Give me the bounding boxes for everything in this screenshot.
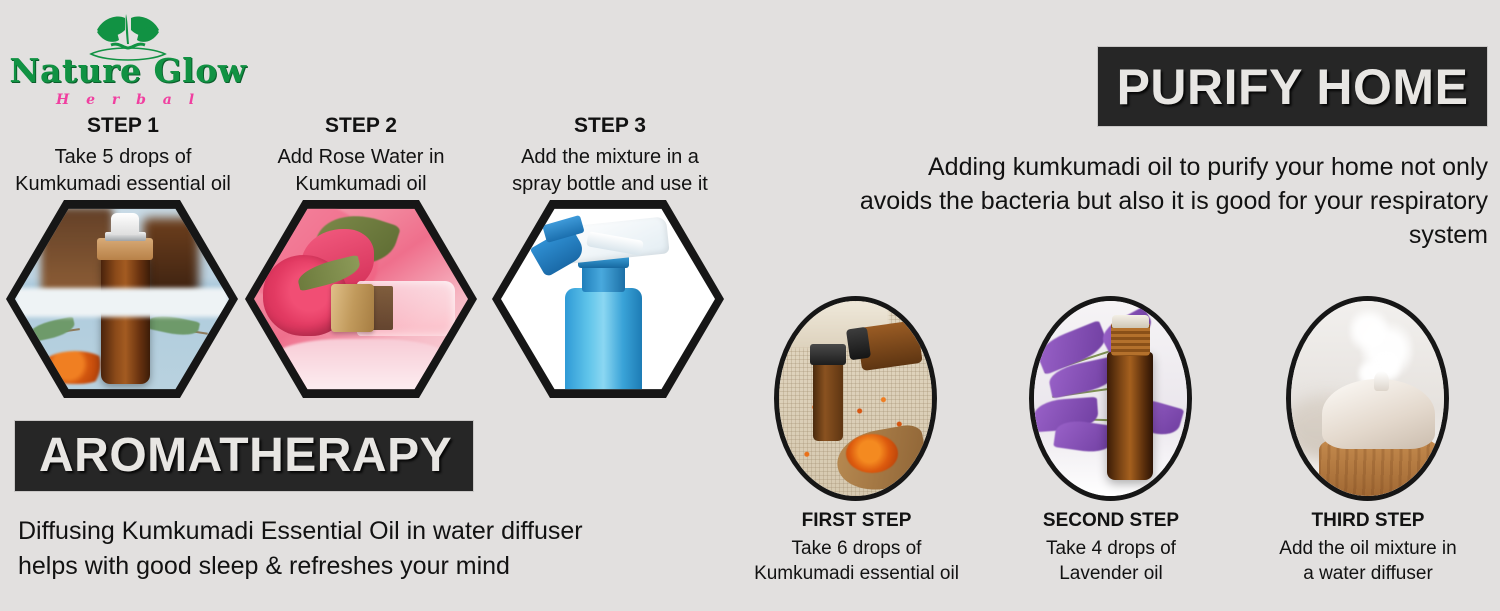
purify-description-line: Adding kumkumadi oil to purify your home… bbox=[752, 150, 1488, 184]
step-line: Take 5 drops of bbox=[10, 144, 236, 171]
right-step-caption-3: THIRD STEP Add the oil mixture in a wate… bbox=[1254, 508, 1482, 586]
step-line: spray bottle and use it bbox=[490, 171, 730, 198]
step-caption-3: STEP 3 Add the mixture in a spray bottle… bbox=[490, 112, 730, 197]
logo-name: Nature Glow bbox=[8, 54, 248, 87]
aromatherapy-description: Diffusing Kumkumadi Essential Oil in wat… bbox=[18, 514, 718, 584]
purify-home-heading-box: PURIFY HOME bbox=[1098, 47, 1487, 126]
step-line: Lavender oil bbox=[1000, 561, 1222, 586]
step-line: Add the mixture in a bbox=[490, 144, 730, 171]
step-title: STEP 3 bbox=[490, 112, 730, 140]
lavender-oil-bottle-photo bbox=[1034, 301, 1187, 496]
logo-subtitle: H e r b a l bbox=[8, 92, 248, 108]
step-line: Kumkumadi oil bbox=[248, 171, 474, 198]
circle-photo-first-step bbox=[774, 296, 937, 501]
purify-home-heading: PURIFY HOME bbox=[1117, 62, 1469, 112]
aromatherapy-description-line: helps with good sleep & refreshes your m… bbox=[18, 549, 718, 584]
hexagon-photo-step-1 bbox=[6, 198, 238, 400]
circle-frame bbox=[774, 296, 937, 501]
aromatherapy-heading-box: AROMATHERAPY bbox=[15, 421, 473, 491]
hexagon-photo-step-3 bbox=[492, 198, 724, 400]
step-title: SECOND STEP bbox=[1000, 508, 1222, 533]
step-title: FIRST STEP bbox=[740, 508, 973, 533]
step-caption-2: STEP 2 Add Rose Water in Kumkumadi oil bbox=[248, 112, 474, 197]
aromatherapy-heading: AROMATHERAPY bbox=[39, 432, 452, 480]
purify-description-line: avoids the bacteria but also it is good … bbox=[752, 184, 1488, 218]
circle-photo-second-step bbox=[1029, 296, 1192, 501]
step-line: Kumkumadi essential oil bbox=[10, 171, 236, 198]
step-caption-1: STEP 1 Take 5 drops of Kumkumadi essenti… bbox=[10, 112, 236, 197]
step-line: a water diffuser bbox=[1254, 561, 1482, 586]
step-line: Add Rose Water in bbox=[248, 144, 474, 171]
step-line: Add the oil mixture in bbox=[1254, 536, 1482, 561]
circle-photo-third-step bbox=[1286, 296, 1449, 501]
step-line: Take 6 drops of bbox=[740, 536, 973, 561]
step-title: STEP 1 bbox=[10, 112, 236, 140]
right-step-caption-1: FIRST STEP Take 6 drops of Kumkumadi ess… bbox=[740, 508, 973, 586]
safflower-oil-bottles-photo bbox=[779, 301, 932, 496]
aromatherapy-description-line: Diffusing Kumkumadi Essential Oil in wat… bbox=[18, 514, 718, 549]
circle-frame bbox=[1029, 296, 1192, 501]
step-title: THIRD STEP bbox=[1254, 508, 1482, 533]
brand-logo: Nature Glow H e r b a l bbox=[8, 12, 248, 104]
step-line: Kumkumadi essential oil bbox=[740, 561, 973, 586]
circle-frame bbox=[1286, 296, 1449, 501]
step-title: STEP 2 bbox=[248, 112, 474, 140]
purify-home-description: Adding kumkumadi oil to purify your home… bbox=[752, 150, 1488, 252]
step-line: Take 4 drops of bbox=[1000, 536, 1222, 561]
purify-description-line: system bbox=[752, 218, 1488, 252]
infographic-canvas: Nature Glow H e r b a l STEP 1 Take 5 dr… bbox=[0, 0, 1500, 611]
wood-water-diffuser-photo bbox=[1291, 301, 1444, 496]
right-step-caption-2: SECOND STEP Take 4 drops of Lavender oil bbox=[1000, 508, 1222, 586]
hexagon-photo-step-2 bbox=[245, 198, 477, 400]
